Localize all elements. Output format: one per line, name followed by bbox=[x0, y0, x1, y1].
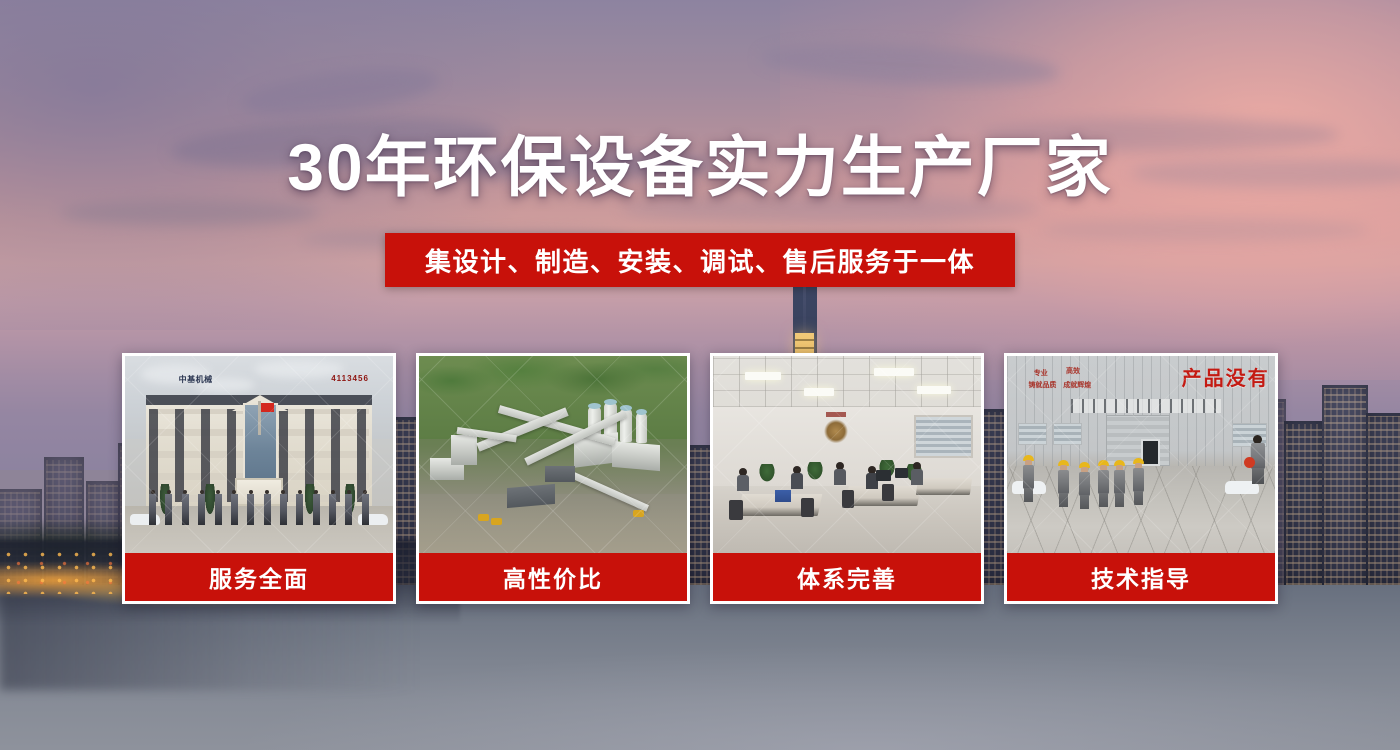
factory-slogan: 铸就品质 bbox=[1028, 380, 1056, 390]
page-title: 30年环保设备实力生产厂家 bbox=[0, 133, 1400, 202]
card-caption-label: 技术指导 bbox=[1091, 560, 1191, 594]
card-caption-label: 高性价比 bbox=[503, 560, 603, 594]
card-photo-office-interior bbox=[713, 356, 981, 553]
card-caption: 技术指导 bbox=[1007, 553, 1275, 601]
card-caption-label: 服务全面 bbox=[209, 560, 309, 594]
factory-slogan: 高效 bbox=[1066, 366, 1080, 376]
card-caption: 服务全面 bbox=[125, 553, 393, 601]
feature-card[interactable]: 体系完善 bbox=[710, 353, 984, 604]
factory-slogan: 成就辉煌 bbox=[1063, 380, 1091, 390]
cloud bbox=[60, 200, 320, 226]
card-photo-industrial-plant bbox=[419, 356, 687, 553]
cloud bbox=[1040, 218, 1370, 242]
feature-card[interactable]: 中基机械 4113456 bbox=[122, 353, 396, 604]
subtitle-text: 集设计、制造、安装、调试、售后服务于一体 bbox=[425, 242, 975, 279]
card-caption-label: 体系完善 bbox=[797, 560, 897, 594]
factory-slogan: 专业 bbox=[1034, 368, 1048, 378]
subtitle-banner: 集设计、制造、安装、调试、售后服务于一体 bbox=[385, 233, 1015, 287]
card-caption: 高性价比 bbox=[419, 553, 687, 601]
feature-card[interactable]: 高性价比 bbox=[416, 353, 690, 604]
card-photo-headquarters: 中基机械 4113456 bbox=[125, 356, 393, 553]
staff-lineup bbox=[149, 490, 369, 522]
feature-card[interactable]: 产品没有 专业 高效 铸就品质 成就辉煌 bbox=[1004, 353, 1278, 604]
card-photo-worker-briefing: 产品没有 专业 高效 铸就品质 成就辉煌 bbox=[1007, 356, 1275, 553]
factory-wall-sign: 产品没有 bbox=[1182, 362, 1270, 391]
hero-banner: 30年环保设备实力生产厂家 集设计、制造、安装、调试、售后服务于一体 bbox=[0, 0, 1400, 750]
feature-card-list: 中基机械 4113456 bbox=[122, 353, 1278, 604]
building-phone-number: 4113456 bbox=[331, 374, 369, 383]
card-caption: 体系完善 bbox=[713, 553, 981, 601]
building-company-sign: 中基机械 bbox=[179, 374, 213, 385]
